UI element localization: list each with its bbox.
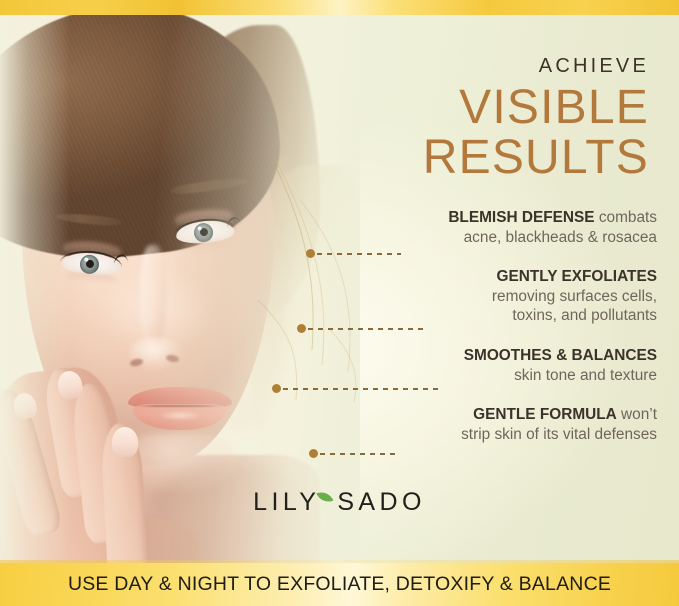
benefit-detail: skin tone and texture <box>277 366 657 386</box>
fingernail <box>111 427 138 458</box>
brand-word-2: SADO <box>337 488 425 516</box>
benefit-item: BLEMISH DEFENSE combats acne, blackheads… <box>277 208 657 247</box>
benefit-title: GENTLE FORMULA <box>473 406 617 423</box>
benefit-item: GENTLE FORMULA won’t strip skin of its v… <box>277 405 657 444</box>
product-lifestyle-banner: ACHIEVE VISIBLE RESULTS BLEMISH DEFENSE … <box>0 0 679 606</box>
benefit-item: GENTLY EXFOLIATES removing surfaces cell… <box>277 267 657 326</box>
benefit-detail: removing surfaces cells, <box>277 287 657 307</box>
benefit-title-line: GENTLE FORMULA won’t <box>277 405 657 425</box>
lip-highlight <box>158 411 202 420</box>
benefit-title-rest: won’t <box>617 406 657 423</box>
benefit-title: GENTLY EXFOLIATES <box>497 268 658 285</box>
brand-word-1: LILY <box>253 488 320 516</box>
headline-line-1: VISIBLE <box>279 84 649 131</box>
benefit-title: BLEMISH DEFENSE <box>448 209 594 226</box>
lips <box>128 387 232 431</box>
benefit-title: SMOOTHES & BALANCES <box>464 347 657 364</box>
headline-kicker: ACHIEVE <box>279 56 649 76</box>
benefit-title-line: BLEMISH DEFENSE combats <box>277 208 657 228</box>
benefit-detail: acne, blackheads & rosacea <box>277 228 657 248</box>
headline-line-2: RESULTS <box>279 134 649 181</box>
eye-right <box>175 219 235 246</box>
benefit-title-line: SMOOTHES & BALANCES <box>277 346 657 366</box>
eye-left <box>61 251 121 278</box>
headline-block: ACHIEVE VISIBLE RESULTS <box>279 56 649 181</box>
benefits-list: BLEMISH DEFENSE combats acne, blackheads… <box>277 208 657 460</box>
benefit-title-rest: combats <box>595 209 657 226</box>
top-accent-strip <box>0 0 679 15</box>
tagline-text: USE DAY & NIGHT TO EXFOLIATE, DETOXIFY &… <box>68 573 611 596</box>
bottom-tagline-strip: USE DAY & NIGHT TO EXFOLIATE, DETOXIFY &… <box>0 563 679 606</box>
benefit-title-line: GENTLY EXFOLIATES <box>277 267 657 287</box>
benefit-detail: strip skin of its vital defenses <box>277 425 657 445</box>
brand-logo-text: LILYSADO <box>253 488 426 517</box>
benefit-item: SMOOTHES & BALANCES skin tone and textur… <box>277 346 657 385</box>
brand-logo: LILYSADO <box>0 488 679 517</box>
lip-line <box>132 405 228 407</box>
benefit-detail: toxins, and pollutants <box>277 306 657 326</box>
